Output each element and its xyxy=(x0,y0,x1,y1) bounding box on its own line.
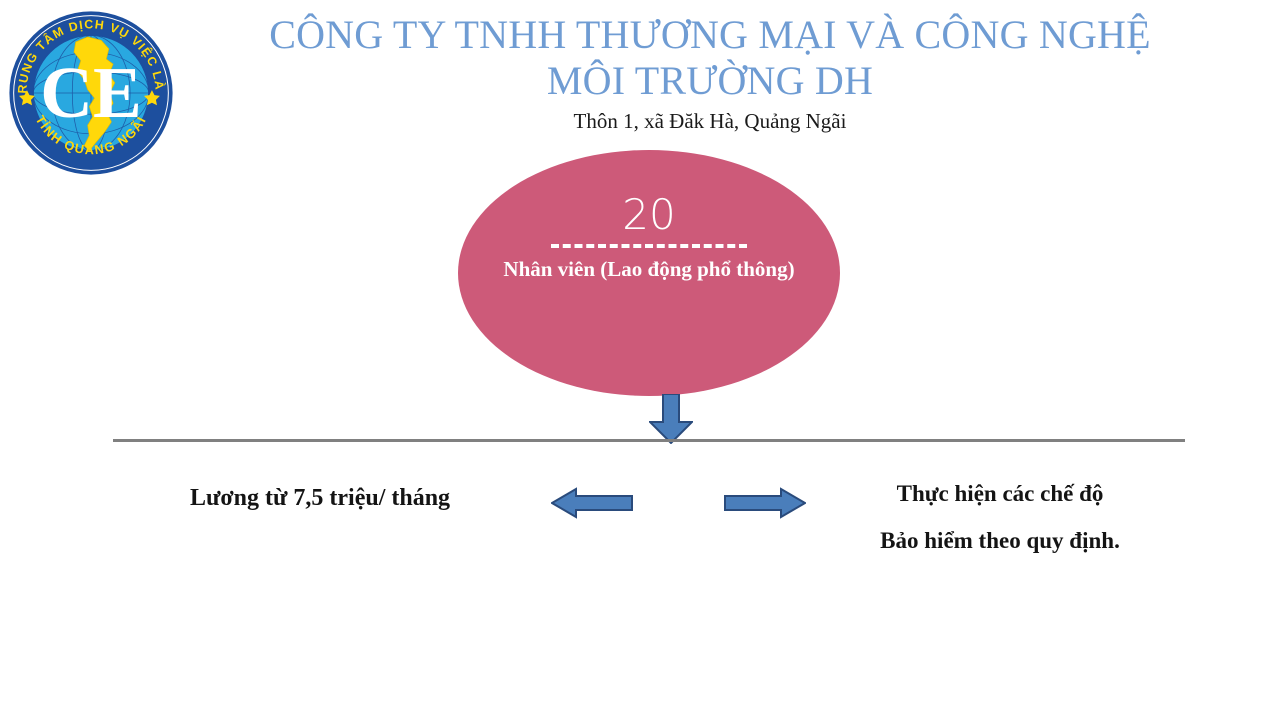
benefit-insurance-line-2: Bảo hiểm theo quy định. xyxy=(830,517,1170,564)
slide-header: CÔNG TY TNHH THƯƠNG MẠI VÀ CÔNG NGHỆ MÔI… xyxy=(210,12,1210,133)
company-title: CÔNG TY TNHH THƯƠNG MẠI VÀ CÔNG NGHỆ MÔI… xyxy=(210,12,1210,104)
benefit-salary-text: Lương từ 7,5 triệu/ tháng xyxy=(120,483,520,513)
company-address: Thôn 1, xã Đăk Hà, Quảng Ngãi xyxy=(210,109,1210,133)
organization-seal-logo: CE TRUNG TÂM DỊCH VỤ VIỆC LÀM TỈNH QUẢNG… xyxy=(5,8,177,178)
arrow-down-icon xyxy=(649,394,693,444)
position-count: 20 xyxy=(622,192,675,238)
arrow-left-icon xyxy=(551,487,633,519)
position-bubble: 20 Nhân viên (Lao động phổ thông) xyxy=(458,150,840,396)
bubble-dashed-divider xyxy=(551,244,747,248)
svg-text:CE: CE xyxy=(40,52,142,133)
benefit-insurance-text: Thực hiện các chế độ Bảo hiểm theo quy đ… xyxy=(830,470,1170,564)
section-divider-line xyxy=(113,439,1185,442)
arrow-right-icon xyxy=(724,487,806,519)
benefit-insurance-line-1: Thực hiện các chế độ xyxy=(830,470,1170,517)
slide-canvas: CE TRUNG TÂM DỊCH VỤ VIỆC LÀM TỈNH QUẢNG… xyxy=(0,0,1280,720)
position-label: Nhân viên (Lao động phổ thông) xyxy=(503,256,794,282)
